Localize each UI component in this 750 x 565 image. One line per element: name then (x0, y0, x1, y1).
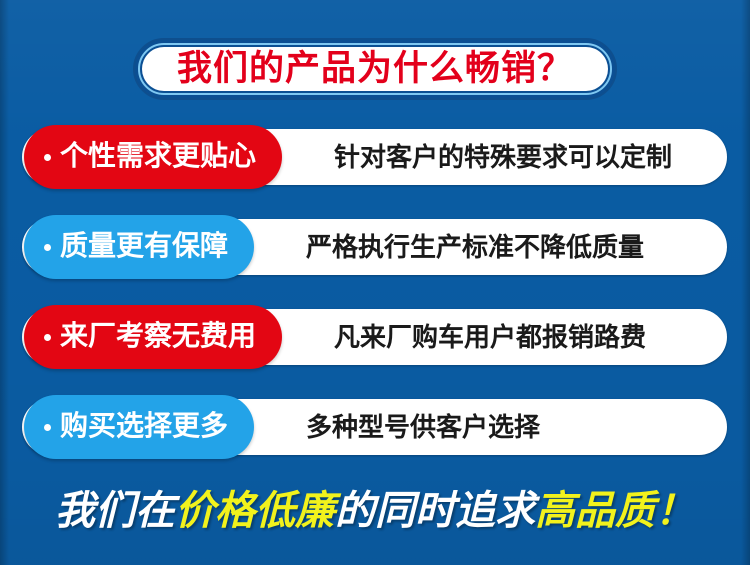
feature-row: 个性需求更贴心 针对客户的特殊要求可以定制 (22, 129, 727, 185)
feature-description: 严格执行生产标准不降低质量 (306, 219, 644, 275)
page-title: 我们的产品为什么畅销？ (177, 51, 573, 86)
tagline-part-1: 我们在 (55, 491, 175, 531)
feature-tag-badge: 质量更有保障 (24, 215, 254, 279)
dot-bullet-icon (44, 424, 51, 431)
tagline-highlight-price: 价格低廉 (175, 491, 335, 531)
feature-description: 凡来厂购车用户都报销路费 (334, 309, 646, 365)
tagline-highlight-quality: 高品质！ (535, 491, 695, 531)
title-pill-surface: 我们的产品为什么畅销？ (142, 47, 608, 91)
feature-tag-label: 购买选择更多 (60, 412, 228, 440)
feature-tag-badge: 来厂考察无费用 (24, 305, 282, 369)
dot-bullet-icon (44, 154, 51, 161)
feature-description: 多种型号供客户选择 (306, 399, 540, 455)
feature-description: 针对客户的特殊要求可以定制 (334, 129, 672, 185)
feature-row: 来厂考察无费用 凡来厂购车用户都报销路费 (22, 309, 727, 365)
feature-tag-label: 来厂考察无费用 (60, 322, 256, 350)
feature-row: 质量更有保障 严格执行生产标准不降低质量 (22, 219, 727, 275)
tagline-part-3: 的同时追求 (335, 491, 535, 531)
feature-tag-badge: 个性需求更贴心 (24, 125, 282, 189)
bottom-tagline: 我们在 价格低廉 的同时追求 高品质！ (0, 483, 750, 538)
feature-row: 购买选择更多 多种型号供客户选择 (22, 399, 727, 455)
feature-tag-label: 质量更有保障 (60, 232, 228, 260)
feature-tag-label: 个性需求更贴心 (60, 142, 256, 170)
promo-banner: 我们的产品为什么畅销？ 个性需求更贴心 针对客户的特殊要求可以定制 质量更有保障… (0, 0, 750, 565)
banner-title-pill: 我们的产品为什么畅销？ (133, 38, 617, 100)
feature-tag-badge: 购买选择更多 (24, 395, 254, 459)
dot-bullet-icon (44, 334, 51, 341)
title-inner-ring: 我们的产品为什么畅销？ (138, 43, 612, 95)
dot-bullet-icon (44, 244, 51, 251)
